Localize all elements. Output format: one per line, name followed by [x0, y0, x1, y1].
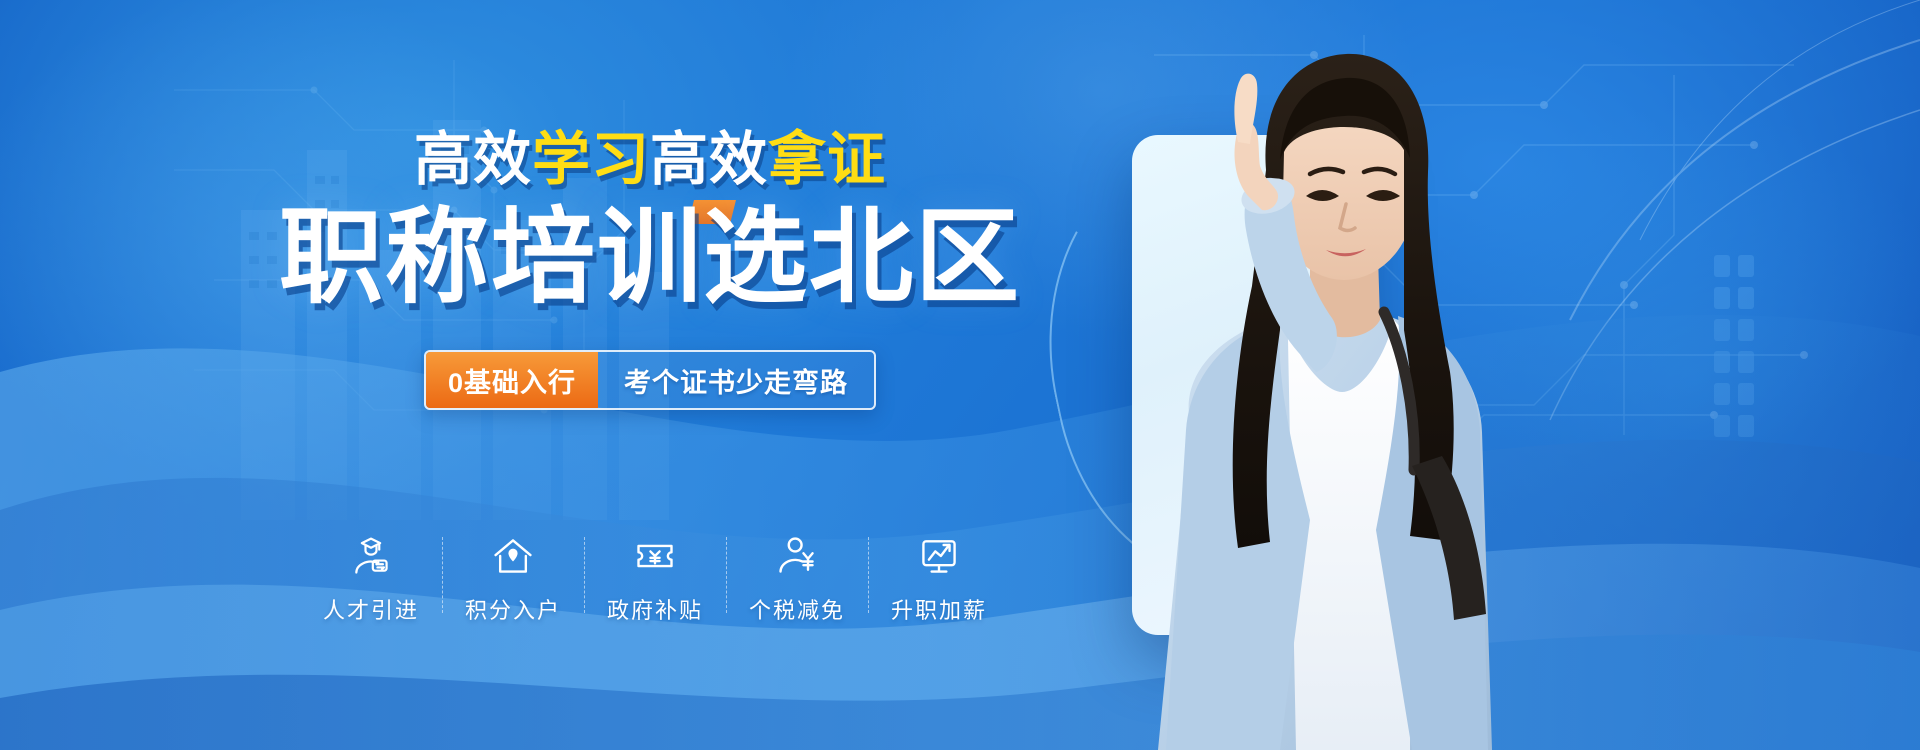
feature-item-government-subsidy[interactable]: 政府补贴: [584, 533, 726, 625]
sub-headline-part-3: 高效: [650, 125, 768, 193]
growth-chart-icon: [916, 533, 962, 579]
feature-item-promotion-raise[interactable]: 升职加薪: [868, 533, 1010, 625]
promo-banner: 高效学习高效拿证 职称培训选北区 0基础入行 考个证书少走弯路: [0, 0, 1920, 750]
feature-label: 政府补贴: [607, 593, 703, 625]
ticket-yuan-icon: [632, 533, 678, 579]
sub-headline-part-2: 学习: [532, 125, 650, 193]
feature-item-talent-import[interactable]: 人才引进: [300, 533, 442, 625]
model-stage: [980, 0, 1620, 750]
tagline-text: 考个证书少走弯路: [598, 352, 874, 408]
feature-label: 个税减免: [749, 593, 845, 625]
feature-label: 升职加薪: [891, 593, 987, 625]
feature-item-points-residency[interactable]: 积分入户: [442, 533, 584, 625]
feature-label: 人才引进: [323, 593, 419, 625]
sub-headline: 高效学习高效拿证: [240, 130, 1060, 188]
feature-item-tax-reduction[interactable]: 个税减免: [726, 533, 868, 625]
presenter-photo: [980, 0, 1620, 750]
sub-headline-part-4: 拿证: [768, 125, 886, 193]
banner-content: 高效学习高效拿证 职称培训选北区 0基础入行 考个证书少走弯路: [240, 130, 1060, 410]
main-headline-text: 职称培训选北区: [279, 196, 1021, 318]
sub-headline-part-1: 高效: [414, 125, 532, 193]
tagline-badge: 0基础入行: [426, 352, 598, 408]
feature-label: 积分入户: [465, 593, 561, 625]
feature-strip: 人才引进 积分入户 政府补贴: [300, 533, 1010, 625]
house-pin-icon: [490, 533, 536, 579]
graduate-person-icon: [348, 533, 394, 579]
tagline-pill: 0基础入行 考个证书少走弯路: [424, 350, 876, 410]
main-headline: 职称培训选北区: [279, 202, 1021, 312]
person-yuan-icon: [774, 533, 820, 579]
